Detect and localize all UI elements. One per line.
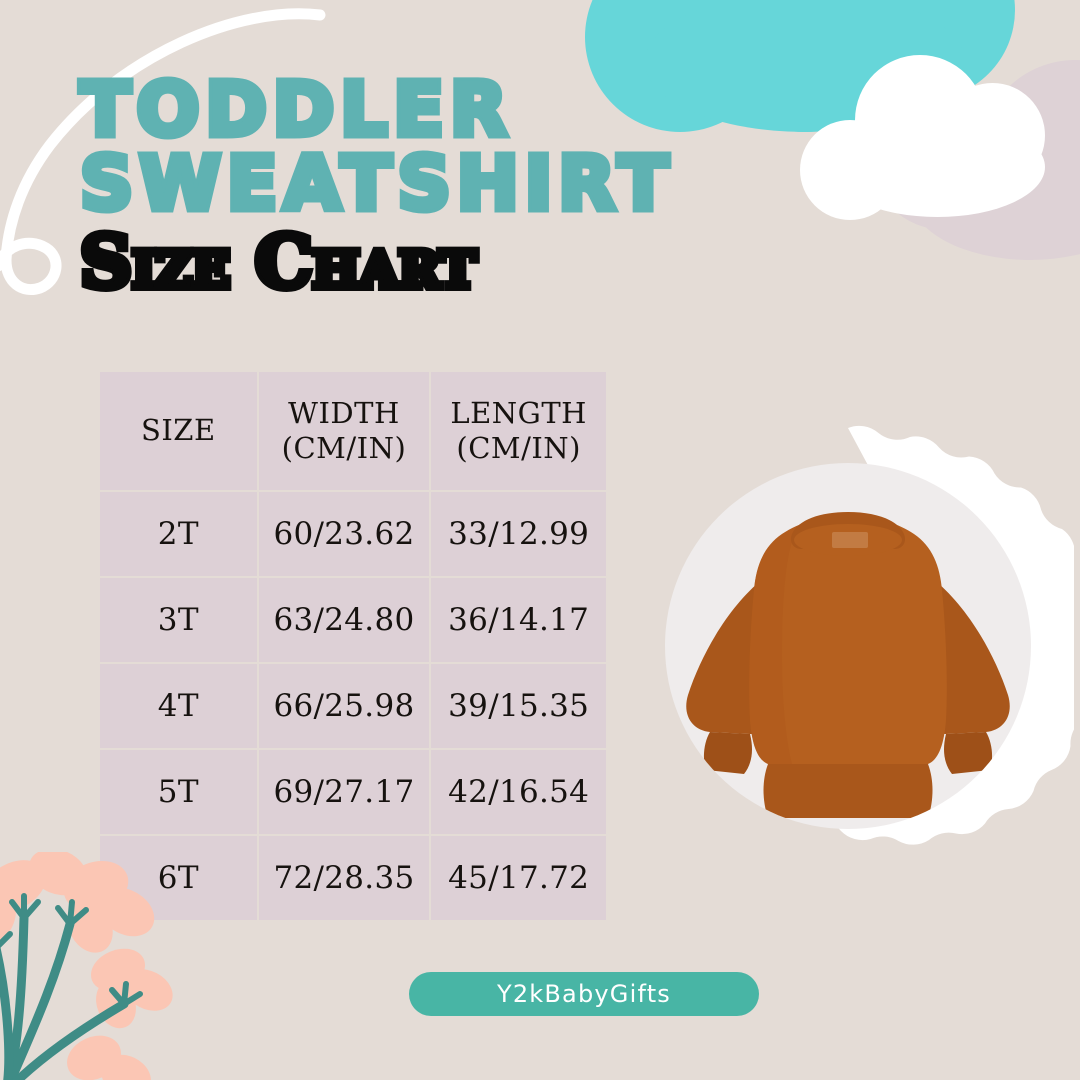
cell-length: 36/14.17 [431, 578, 606, 662]
table-row: 4T 66/25.98 39/15.35 [100, 664, 606, 748]
column-header-length: LENGTH (CM/IN) [431, 372, 606, 490]
column-header-size: SIZE [100, 372, 257, 490]
cell-size: 6T [100, 836, 257, 920]
column-header-width: WIDTH (CM/IN) [259, 372, 430, 490]
column-header-length-line1: LENGTH [431, 396, 606, 431]
cell-size: 4T [100, 664, 257, 748]
brand-name: Y2kBabyGifts [497, 980, 671, 1008]
white-cloud-decoration [800, 55, 1070, 225]
cell-length: 42/16.54 [431, 750, 606, 834]
table-row: 5T 69/27.17 42/16.54 [100, 750, 606, 834]
mauve-cloud-decoration [870, 60, 1080, 270]
size-chart-canvas: Toddler Sweatshirt Size Chart SIZE WIDTH… [0, 0, 1080, 1080]
page-title-block: Toddler Sweatshirt Size Chart [80, 76, 780, 298]
cell-length: 45/17.72 [431, 836, 606, 920]
table-header-row: SIZE WIDTH (CM/IN) LENGTH (CM/IN) [100, 372, 606, 490]
title-line-2: Sweatshirt [80, 150, 780, 218]
cell-length: 33/12.99 [431, 492, 606, 576]
cell-width: 72/28.35 [259, 836, 430, 920]
product-image-frame [622, 420, 1074, 872]
cell-width: 66/25.98 [259, 664, 430, 748]
cell-size: 3T [100, 578, 257, 662]
cell-length: 39/15.35 [431, 664, 606, 748]
table-row: 2T 60/23.62 33/12.99 [100, 492, 606, 576]
table-row: 3T 63/24.80 36/14.17 [100, 578, 606, 662]
brand-badge[interactable]: Y2kBabyGifts [409, 972, 759, 1016]
cell-size: 2T [100, 492, 257, 576]
cell-width: 69/27.17 [259, 750, 430, 834]
column-header-width-line1: WIDTH [259, 396, 430, 431]
cell-size: 5T [100, 750, 257, 834]
page-subtitle: Size Chart [80, 226, 780, 298]
column-header-length-line2: (CM/IN) [431, 431, 606, 466]
cell-width: 63/24.80 [259, 578, 430, 662]
size-chart-table: SIZE WIDTH (CM/IN) LENGTH (CM/IN) 2T 60/… [98, 370, 608, 922]
column-header-width-line2: (CM/IN) [259, 431, 430, 466]
table-row: 6T 72/28.35 45/17.72 [100, 836, 606, 920]
cell-width: 60/23.62 [259, 492, 430, 576]
title-line-1: Toddler [80, 76, 780, 144]
